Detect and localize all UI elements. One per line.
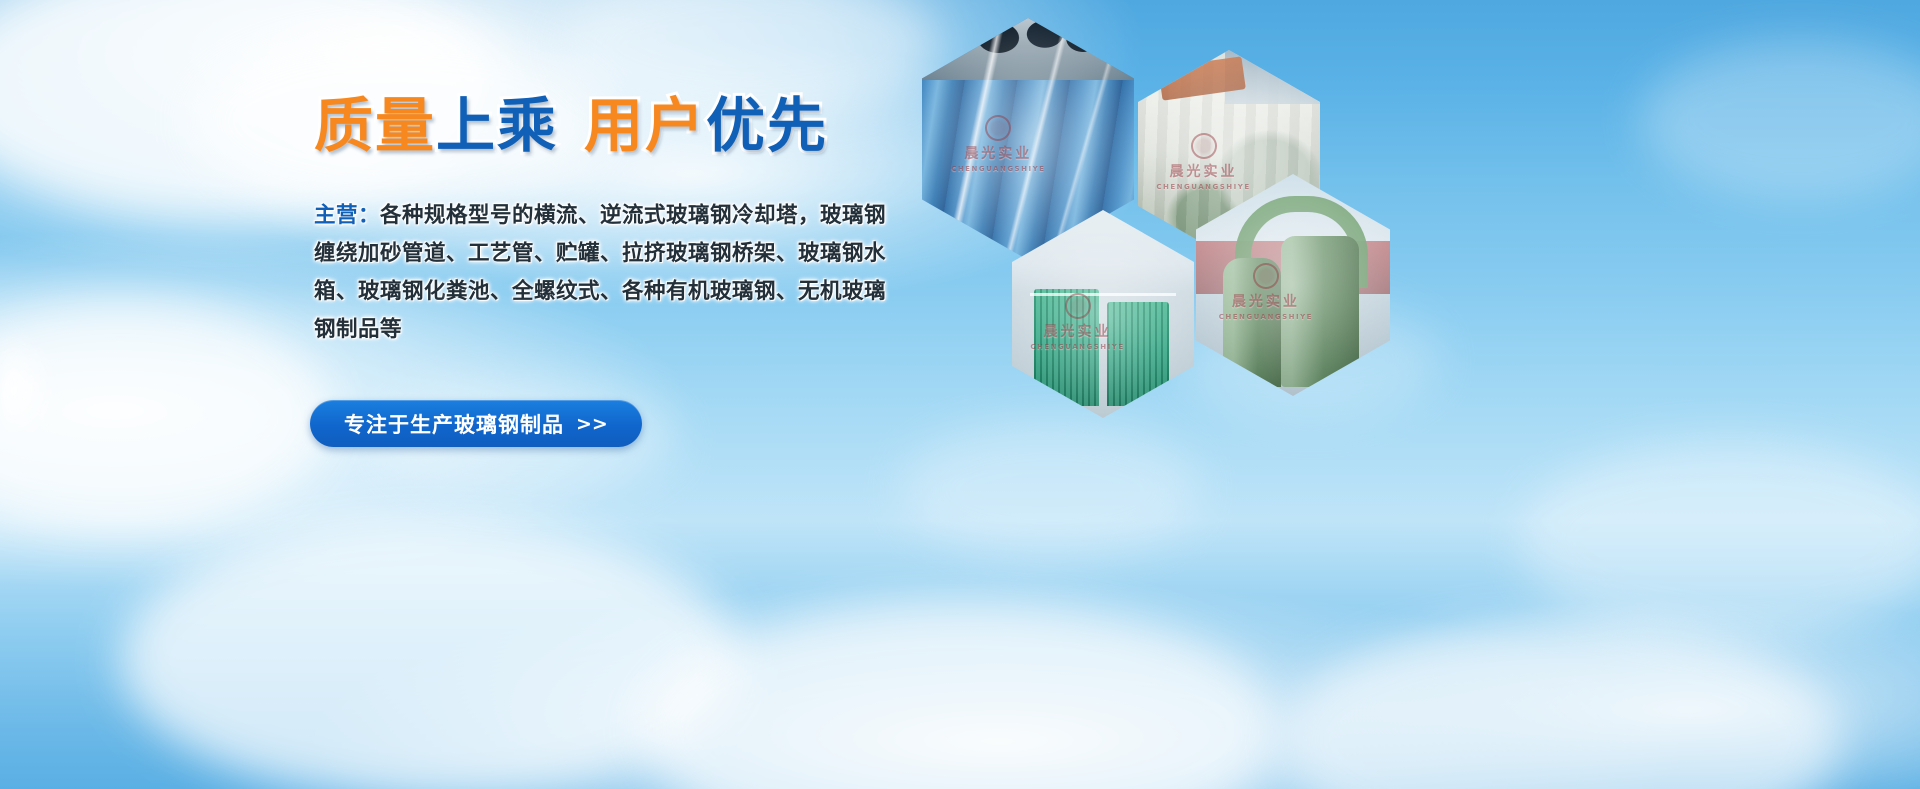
cloud-wisp — [0, 330, 60, 450]
focus-on-frp-products-button[interactable]: 专注于生产玻璃钢制品>> — [310, 400, 642, 447]
headline-segment-first: 优先 — [706, 91, 828, 160]
double-chevron-right-icon: >> — [576, 413, 608, 435]
hero-copy: 质量上乘用户优先 主营：各种规格型号的横流、逆流式玻璃钢冷却塔，玻璃钢缠绕加砂管… — [308, 96, 908, 349]
cloud-shape — [1280, 620, 1840, 789]
business-scope-text: 主营：各种规格型号的横流、逆流式玻璃钢冷却塔，玻璃钢缠绕加砂管道、工艺管、贮罐、… — [314, 197, 899, 349]
headline-segment-user: 用户 — [584, 91, 706, 160]
product-image-collage: 晨光实业 CHENGUANGSHIYE 晨光实业 CHENGUANGSHIYE — [920, 14, 1420, 394]
cloud-shape — [900, 420, 1200, 560]
headline-segment-quality: 质量 — [314, 91, 436, 160]
business-scope-label: 主营： — [314, 203, 380, 228]
cooling-tower-body — [1034, 289, 1100, 405]
platform-railing-detail — [1030, 293, 1176, 296]
cooling-tower-body — [1107, 302, 1169, 406]
headline-segment-superior: 上乘 — [436, 91, 558, 160]
cloud-shape — [1640, 40, 1920, 200]
page-title: 质量上乘用户优先 — [314, 96, 908, 155]
hero-banner: 质量上乘用户优先 主营：各种规格型号的横流、逆流式玻璃钢冷却塔，玻璃钢缠绕加砂管… — [0, 0, 1920, 789]
cloud-shape — [640, 600, 1280, 789]
cta-label: 专注于生产玻璃钢制品 — [344, 409, 564, 439]
scrubber-tower-body — [1281, 236, 1359, 387]
scrubber-duct — [1223, 258, 1281, 387]
cloud-shape — [1520, 440, 1920, 640]
